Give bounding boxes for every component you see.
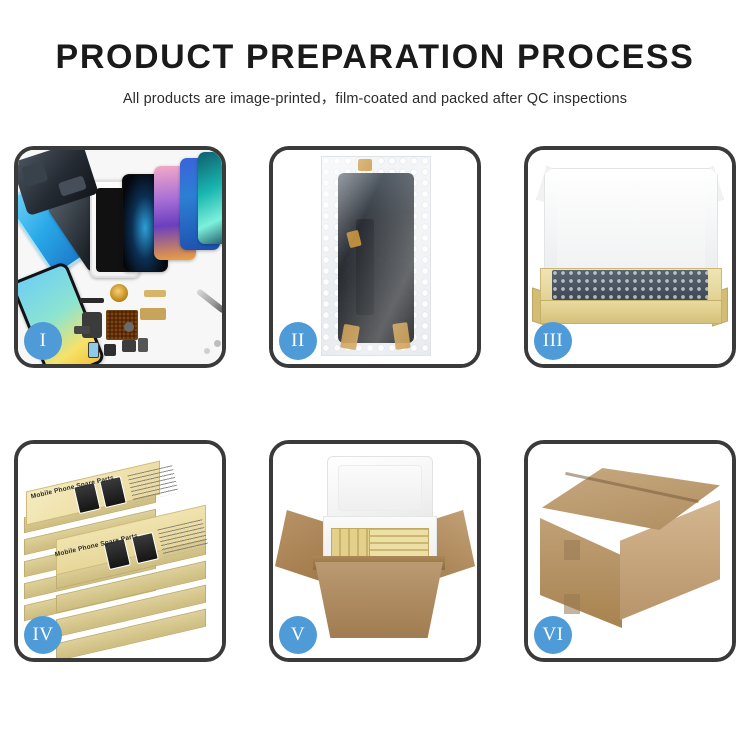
white-box-lid-icon bbox=[544, 168, 718, 282]
step-badge-4: IV bbox=[24, 616, 62, 654]
step-badge-6: VI bbox=[534, 616, 572, 654]
page-title: PRODUCT PREPARATION PROCESS bbox=[0, 38, 750, 77]
process-steps-grid: I II bbox=[14, 146, 736, 662]
step-panel-5[interactable]: V bbox=[269, 440, 481, 662]
foam-lid-icon bbox=[327, 456, 433, 524]
tape-1-icon bbox=[358, 159, 372, 171]
carton-body-icon bbox=[315, 562, 443, 638]
teal-phone-icon bbox=[198, 152, 222, 244]
connector-part-icon bbox=[140, 308, 166, 320]
carton-tape-2-icon bbox=[564, 594, 580, 614]
tape-3-icon bbox=[340, 324, 360, 350]
screwdriver-icon bbox=[196, 288, 222, 314]
bubble-bag-icon bbox=[321, 156, 431, 356]
step-panel-3[interactable]: III bbox=[524, 146, 736, 368]
page-header: PRODUCT PREPARATION PROCESS All products… bbox=[0, 0, 750, 108]
step-panel-1[interactable]: I bbox=[14, 146, 226, 368]
ribbon-part-icon bbox=[144, 290, 166, 297]
small-part-4-icon bbox=[138, 338, 148, 352]
step-badge-5: V bbox=[279, 616, 317, 654]
carton-tape-1-icon bbox=[564, 540, 580, 560]
coil-part-icon bbox=[110, 284, 128, 302]
small-part-5-icon bbox=[74, 326, 90, 334]
bubble-contents-icon bbox=[552, 270, 708, 300]
page-subtitle: All products are image-printed，film-coat… bbox=[0, 87, 750, 108]
small-part-3-icon bbox=[122, 340, 136, 352]
small-part-1-icon bbox=[88, 342, 99, 358]
yellow-box-front-icon bbox=[540, 300, 722, 324]
step-panel-2[interactable]: II bbox=[269, 146, 481, 368]
flex-cable-part-icon bbox=[82, 312, 102, 338]
small-part-2-icon bbox=[104, 344, 116, 356]
step-badge-2: II bbox=[279, 322, 317, 360]
step-panel-6[interactable]: VI bbox=[524, 440, 736, 662]
screw-1-icon bbox=[214, 340, 221, 347]
wrapped-screen-icon bbox=[338, 173, 414, 343]
step-badge-1: I bbox=[24, 322, 62, 360]
step-badge-3: III bbox=[534, 322, 572, 360]
small-part-6-icon bbox=[124, 322, 134, 332]
step-panel-4[interactable]: Mobile Phone Spare Parts Mobile Phone Sp… bbox=[14, 440, 226, 662]
bar-part-icon bbox=[80, 298, 104, 303]
carton-face-left-icon bbox=[540, 518, 622, 628]
screw-2-icon bbox=[204, 348, 210, 354]
